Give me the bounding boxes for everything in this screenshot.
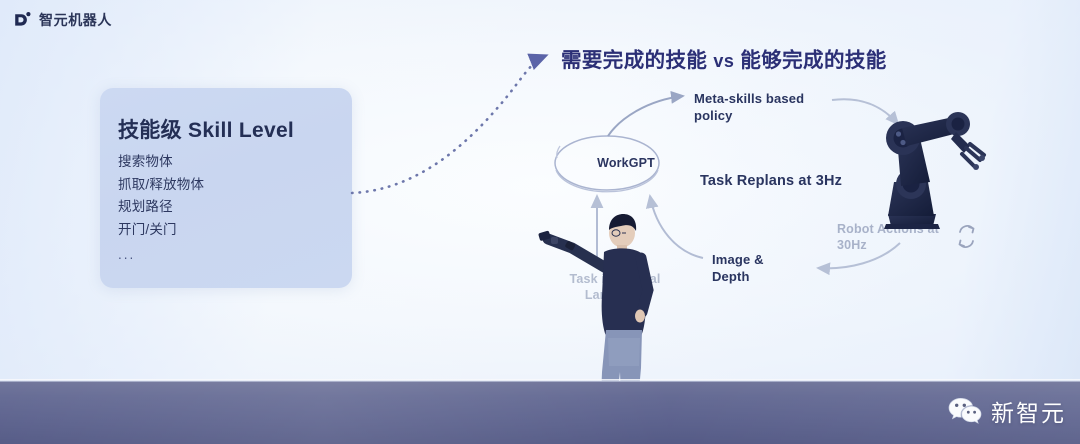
list-item: 开门/关门: [118, 219, 204, 242]
list-item: 规划路径: [118, 196, 204, 219]
label-task-replans: Task Replans at 3Hz: [700, 173, 842, 190]
aglibot-d-mark-icon: [12, 10, 32, 30]
label-robot-actions: Robot Actions at 30Hz: [837, 221, 957, 253]
brand-logo: 智元机器人: [12, 10, 112, 30]
skill-level-card: 技能级 Skill Level 搜索物体 抓取/释放物体 规划路径 开门/关门 …: [100, 88, 352, 288]
screenshot-root: 智元机器人 技能级 Skill Level 搜索物体 抓取/释放物体 规划路径 …: [0, 0, 1080, 444]
brand-name: 智元机器人: [39, 10, 112, 30]
list-item: 搜索物体: [118, 151, 204, 174]
list-item-ellipsis: ...: [118, 241, 204, 267]
headline-vs: vs: [713, 51, 734, 71]
label-image-depth: Image & Depth: [712, 251, 802, 285]
stage-floor-sheen: [0, 381, 1080, 444]
watermark-text: 新智元: [991, 394, 1066, 428]
page-title: 需要完成的技能 vs 能够完成的技能: [561, 43, 887, 73]
wechat-icon: [948, 397, 982, 426]
headline-prefix: 需要完成的技能: [561, 49, 707, 72]
skill-card-list: 搜索物体 抓取/释放物体 规划路径 开门/关门 ...: [118, 151, 204, 267]
label-task-natural-language: Task in Natural Language: [560, 271, 670, 303]
watermark: 新智元: [948, 394, 1066, 428]
label-meta-skills-policy: Meta-skills based policy: [694, 90, 824, 124]
node-workgpt-label: WorkGPT: [578, 155, 674, 172]
list-item: 抓取/释放物体: [118, 174, 204, 197]
headline-suffix: 能够完成的技能: [740, 49, 886, 72]
skill-card-title: 技能级 Skill Level: [118, 114, 294, 144]
